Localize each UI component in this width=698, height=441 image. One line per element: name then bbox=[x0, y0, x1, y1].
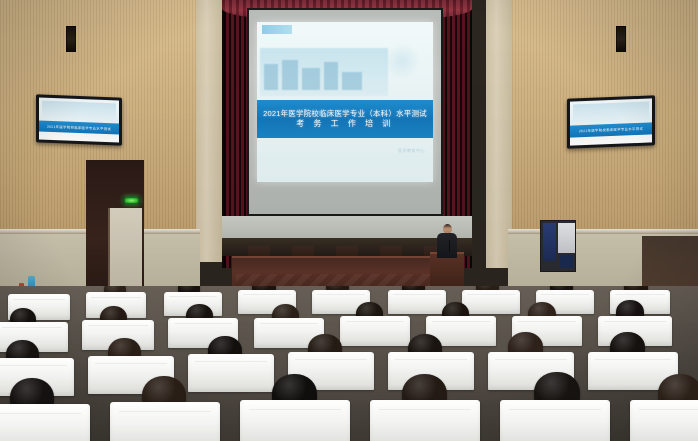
wall-monitor-left-screen: 2021年医学院校临床医学专业水平测试 bbox=[39, 97, 119, 142]
slide-logo-icon bbox=[262, 25, 292, 34]
pilaster-right bbox=[486, 0, 512, 268]
slide-footer-note: 医学教育中心 bbox=[398, 148, 425, 154]
wall-monitor-left[interactable]: 2021年医学院校临床医学专业水平测试 bbox=[36, 94, 122, 145]
pilaster-left bbox=[196, 0, 222, 262]
monitor-right-image-area bbox=[573, 102, 649, 123]
presenter-body bbox=[437, 233, 457, 258]
rack-panel-display bbox=[560, 255, 573, 268]
projection-screen: 2021年医学院校临床医学专业（本科）水平测试 考 务 工 作 培 训 医学教育… bbox=[249, 10, 441, 214]
seat-with-white-cover[interactable] bbox=[188, 354, 274, 392]
slide-campus-photo bbox=[260, 48, 388, 96]
seat-with-white-cover[interactable] bbox=[462, 290, 520, 314]
microphone-icon bbox=[449, 240, 450, 252]
door-leaf-left[interactable] bbox=[108, 208, 142, 290]
monitor-left-title-bar: 2021年医学院校临床医学专业水平测试 bbox=[39, 121, 119, 135]
seat-with-white-cover[interactable] bbox=[110, 402, 220, 441]
slide-title-banner: 2021年医学院校临床医学专业（本科）水平测试 考 务 工 作 培 训 bbox=[257, 100, 433, 138]
equipment-rack[interactable] bbox=[540, 220, 576, 272]
wall-monitor-right[interactable]: 2021年医学院校临床医学专业水平测试 bbox=[567, 95, 655, 148]
presenter bbox=[437, 224, 457, 258]
wall-speaker-icon-left bbox=[66, 26, 76, 52]
seat-with-white-cover[interactable] bbox=[240, 400, 350, 441]
monitor-right-title-bar: 2021年医学院校临床医学专业水平测试 bbox=[570, 123, 652, 138]
wall-speaker-icon-right bbox=[616, 26, 626, 52]
monitor-left-image-area bbox=[42, 101, 116, 121]
seat-with-white-cover[interactable] bbox=[340, 316, 410, 346]
monitor-right-title-text: 2021年医学院校临床医学专业水平测试 bbox=[570, 123, 652, 138]
auditorium-scene: 2021年医学院校临床医学专业（本科）水平测试 考 务 工 作 培 训 医学教育… bbox=[0, 0, 698, 441]
slide-title-line1: 2021年医学院校临床医学专业（本科）水平测试 bbox=[263, 110, 427, 118]
rack-panel-white bbox=[558, 223, 575, 253]
seat-with-white-cover[interactable] bbox=[370, 400, 480, 441]
audience-seating-area bbox=[0, 286, 698, 441]
seat-with-white-cover[interactable] bbox=[388, 290, 446, 314]
slide-watermark bbox=[381, 44, 423, 78]
presentation-slide: 2021年医学院校临床医学专业（本科）水平测试 考 务 工 作 培 训 医学教育… bbox=[257, 22, 433, 182]
slide-title-line2: 考 务 工 作 培 训 bbox=[296, 120, 394, 128]
monitor-left-title-text: 2021年医学院校临床医学专业水平测试 bbox=[39, 121, 119, 135]
seat-with-white-cover[interactable] bbox=[630, 400, 698, 441]
seat-with-white-cover[interactable] bbox=[500, 400, 610, 441]
exit-sign-light-icon bbox=[125, 198, 138, 203]
seat-with-white-cover[interactable] bbox=[0, 404, 90, 441]
wall-monitor-right-screen: 2021年医学院校临床医学专业水平测试 bbox=[570, 98, 652, 145]
exit-sign bbox=[122, 196, 141, 205]
rack-panel-screen bbox=[543, 223, 556, 261]
